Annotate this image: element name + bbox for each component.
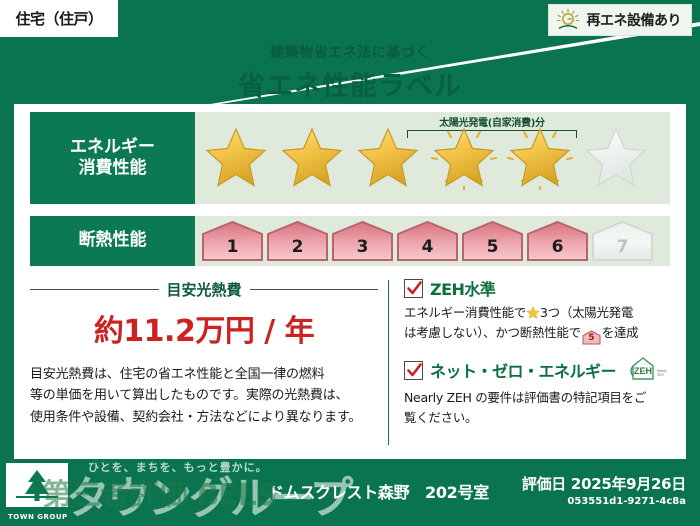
star-cell — [579, 127, 653, 190]
section-divider — [388, 280, 389, 445]
net-zero-body-line-1: Nearly ZEH の要件は評価書の特記項目をご — [404, 388, 674, 408]
zeh-body-part-a: エネルギー消費性能で — [404, 305, 526, 320]
house-level-filled: 2 — [266, 220, 329, 262]
zeh-body-part-d: を達成 — [602, 325, 639, 340]
star-empty-icon — [583, 127, 649, 190]
inline-house-level-icon: 5 — [582, 330, 601, 345]
renewable-equipment-label: 再エネ設備あり — [587, 10, 682, 30]
zeh-standard-title: ZEH水準 — [430, 276, 495, 300]
inline-star-icon — [526, 305, 540, 320]
town-group-logo: TOWN GROUP — [6, 463, 76, 523]
housing-type-label: 住宅（住戸） — [15, 8, 102, 29]
energy-cost-note-line-3: 使用条件や設備、契約会社・方法などにより異なります。 — [30, 407, 378, 428]
energy-cost-heading-label: 目安光熱費 — [167, 279, 242, 300]
star-cell — [427, 127, 501, 190]
label-title: 建築物省エネ法に基づく 省エネ性能ラベル — [0, 42, 700, 103]
energy-cost-note-line-1: 目安光熱費は、住宅の省エネ性能と全国一律の燃料 — [30, 364, 378, 385]
house-level-value: 2 — [292, 237, 304, 257]
zeh-body-part-b: 3つ（太陽光発電 — [540, 305, 633, 320]
star-cell — [275, 127, 349, 190]
net-zero-body-line-2: 覧ください。 — [404, 408, 674, 428]
zeh-standard-header: ZEH水準 — [404, 276, 674, 300]
energy-cost-note: 目安光熱費は、住宅の省エネ性能と全国一律の燃料 等の単価を用いて算出したものです… — [30, 364, 378, 428]
house-level-value: 1 — [227, 237, 239, 257]
insulation-performance-label: 断熱性能 — [30, 216, 195, 266]
logo-mark-box — [6, 463, 68, 507]
check-icon — [406, 362, 423, 379]
housing-type-tag: 住宅（住戸） — [0, 0, 118, 37]
house-level-filled: 1 — [201, 220, 264, 262]
energy-performance-rating: 太陽光発電(自家消費)分 — [195, 112, 670, 204]
star-filled-icon — [507, 127, 573, 190]
star-cell — [503, 127, 577, 190]
title-subtitle: 建築物省エネ法に基づく — [0, 42, 700, 62]
net-zero-energy-body: Nearly ZEH の要件は評価書の特記項目をご 覧ください。 — [404, 388, 674, 428]
house-level-value: 4 — [422, 237, 434, 257]
star-filled-icon — [203, 127, 269, 190]
energy-label-root: 住宅（住戸） 再エネ設備あり 建築物省エネ法に基づく — [0, 0, 700, 525]
star-rating — [195, 112, 670, 204]
energy-cost-section: 目安光熱費 約11.2万円 / 年 目安光熱費は、住宅の省エネ性能と全国一律の燃… — [30, 279, 378, 428]
house-level-value: 3 — [357, 237, 369, 257]
house-level-filled: 5 — [461, 220, 524, 262]
star-filled-icon — [355, 127, 421, 190]
zeh-standard-checkbox[interactable] — [404, 279, 423, 298]
energy-cost-value: 約11.2万円 / 年 — [30, 306, 378, 350]
energy-cost-note-line-2: 等の単価を用いて算出したものです。実際の光熱費は、 — [30, 385, 378, 406]
insulation-performance-rating: 1 2 — [195, 216, 670, 266]
zeh-logo-icon: ZEH Nearly ZEH — [623, 355, 667, 385]
star-cell — [199, 127, 273, 190]
heading-rule-right — [250, 289, 379, 290]
sun-icon — [555, 8, 581, 32]
zeh-standard-item: ZEH水準 エネルギー消費性能で3つ（太陽光発電 は考慮しない）、かつ断熱性能で… — [404, 276, 674, 345]
town-group-logo-text: TOWN GROUP — [8, 513, 68, 521]
house-level-filled: 3 — [331, 220, 394, 262]
evaluation-id: 053551d1-9271-4c8a — [522, 496, 686, 507]
house-level-filled: 4 — [396, 220, 459, 262]
house-level-scale: 1 2 — [195, 216, 670, 266]
house-level-filled: 6 — [526, 220, 589, 262]
energy-performance-label: エネルギー 消費性能 — [30, 112, 195, 204]
svg-text:ZEH: ZEH — [634, 366, 652, 376]
inline-house-level-value: 5 — [582, 330, 601, 346]
label-footer: ドムスクレスト森野 202号室 評価日 2025年9月26日 053551d1-… — [0, 459, 700, 525]
net-zero-energy-header: ネット・ゼロ・エネルギー ZEH Nearly ZEH — [404, 355, 674, 385]
house-level-empty: 7 — [591, 220, 654, 262]
evaluation-date: 評価日 2025年9月26日 — [522, 473, 686, 494]
star-filled-icon — [279, 127, 345, 190]
property-name: ドムスクレスト森野 202号室 — [268, 479, 489, 503]
house-level-value: 6 — [552, 237, 564, 257]
tree-icon — [12, 467, 62, 503]
zeh-standard-body: エネルギー消費性能で3つ（太陽光発電 は考慮しない）、かつ断熱性能で 5 を達成 — [404, 303, 674, 345]
energy-cost-heading: 目安光熱費 — [30, 279, 378, 300]
evaluation-info: 評価日 2025年9月26日 053551d1-9271-4c8a — [522, 473, 686, 507]
house-level-value: 7 — [617, 237, 629, 257]
zeh-body-part-c: は考慮しない）、かつ断熱性能で — [404, 325, 581, 340]
title-heading: 省エネ性能ラベル — [0, 64, 700, 103]
house-level-value: 5 — [487, 237, 499, 257]
svg-text:ZEH: ZEH — [657, 373, 664, 377]
label-card: エネルギー 消費性能 太陽光発電(自家消費)分 — [14, 104, 686, 459]
star-filled-icon — [431, 127, 497, 190]
energy-performance-row: エネルギー 消費性能 太陽光発電(自家消費)分 — [30, 112, 670, 204]
check-icon — [406, 280, 423, 297]
star-cell — [351, 127, 425, 190]
heading-rule-left — [30, 289, 159, 290]
renewable-equipment-tag: 再エネ設備あり — [548, 4, 693, 36]
insulation-performance-row: 断熱性能 1 — [30, 216, 670, 266]
net-zero-energy-item: ネット・ゼロ・エネルギー ZEH Nearly ZEH Nearly ZEH の… — [404, 355, 674, 428]
net-zero-energy-checkbox[interactable] — [404, 361, 423, 380]
net-zero-energy-title: ネット・ゼロ・エネルギー — [430, 358, 616, 382]
zeh-section: ZEH水準 エネルギー消費性能で3つ（太陽光発電 は考慮しない）、かつ断熱性能で… — [404, 276, 674, 438]
